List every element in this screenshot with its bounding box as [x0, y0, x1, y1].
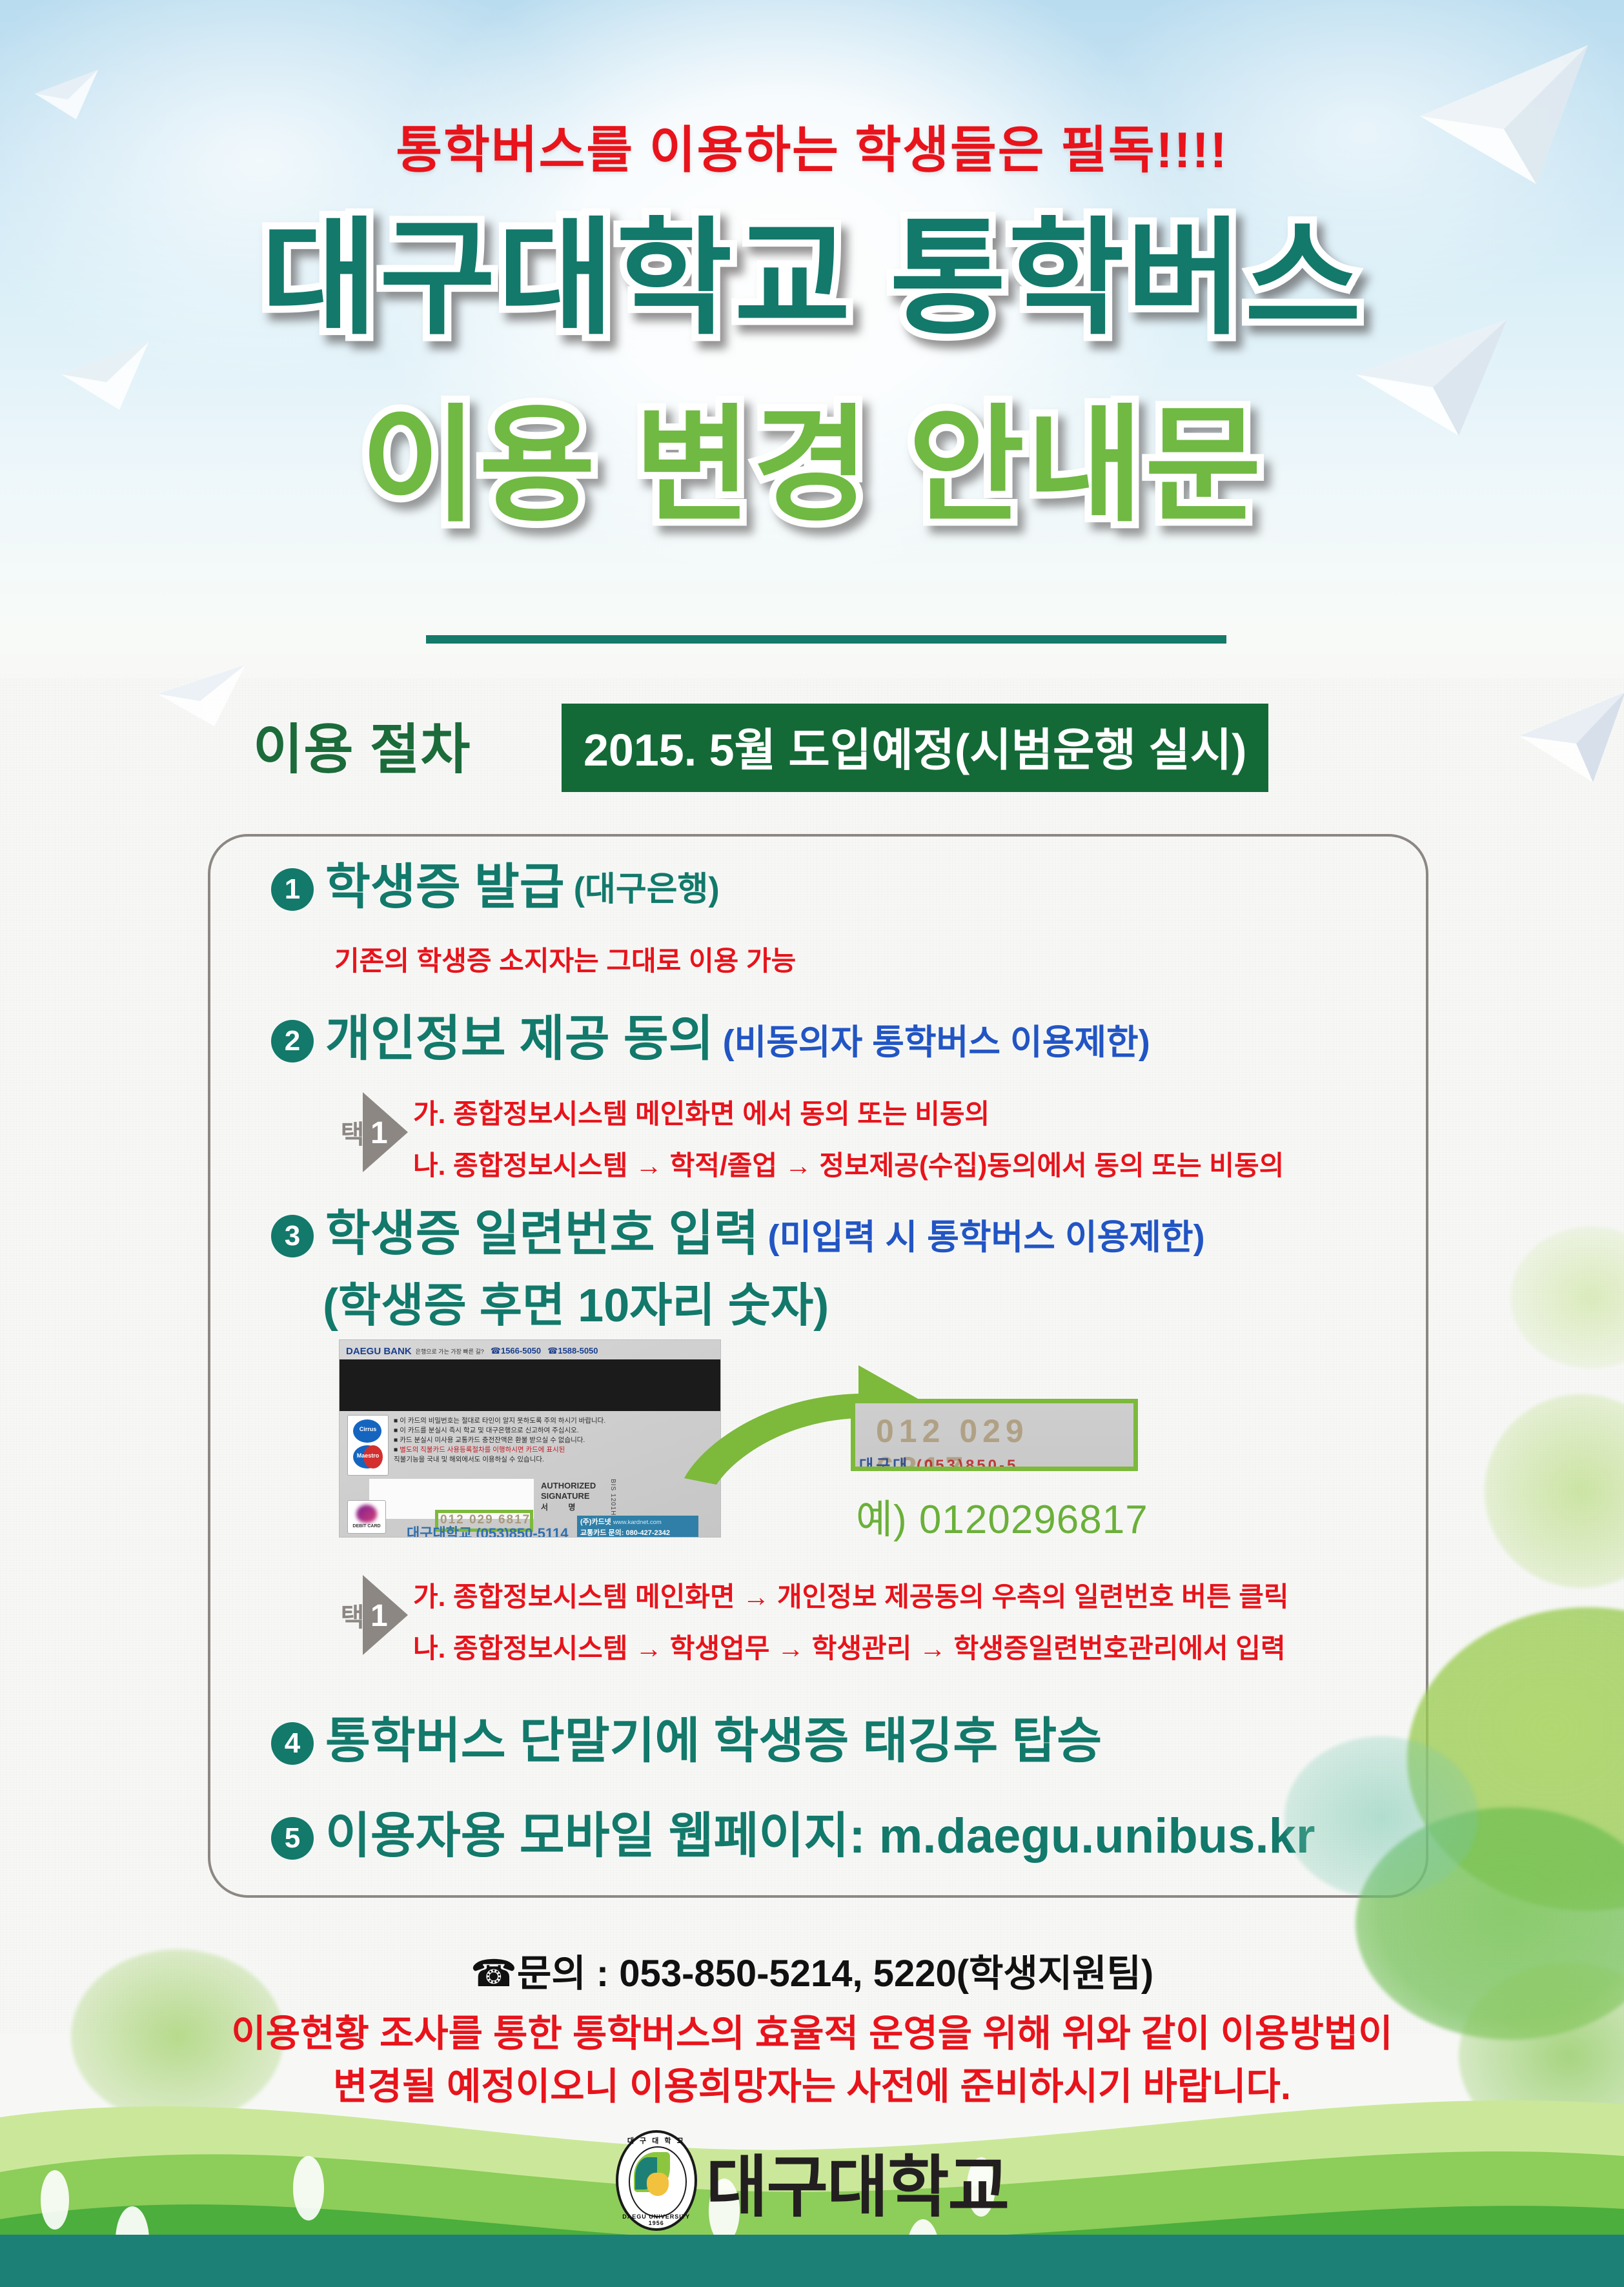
card-magnetic-stripe: [340, 1359, 720, 1411]
card-bank-header: DAEGU BANK 은행으로 가는 가장 빠른 길? ☎1566-5050 ☎…: [346, 1344, 715, 1358]
bottom-teal-bar: [0, 2235, 1624, 2287]
procedure-date-banner: 2015. 5월 도입예정(시범운행 실시): [562, 704, 1268, 792]
serial-zoom-callout: 012 029 6817 대구대 (053)850-5: [851, 1399, 1138, 1471]
card-bank-tagline: 은행으로 가는 가장 빠른 길?: [416, 1347, 484, 1356]
step-3-sub-a: 가. 종합정보시스템 메인화면 → 개인정보 제공동의 우측의 일련번호 버튼 …: [413, 1575, 1289, 1614]
step-1-note: 기존의 학생증 소지자는 그대로 이용 가능: [334, 939, 796, 979]
step-title: 통학버스 단말기에 학생증 태깅후 탑승: [325, 1716, 1102, 1767]
pick-number: 1: [370, 1598, 388, 1634]
kardnet-sub: 교통카드 문의: 080-427-2342: [580, 1529, 670, 1537]
title-divider: [426, 635, 1226, 644]
serial-example-text: 예) 0120296817: [856, 1487, 1148, 1545]
kardnet-name: (주)카드넷: [580, 1518, 611, 1526]
step-3-sub-b: 나. 종합정보시스템 → 학생업무 → 학생관리 → 학생증일련번호관리에서 입…: [413, 1627, 1286, 1666]
step-paren: (비동의자 통학버스 이용제한): [723, 1013, 1150, 1064]
step-title: 학생증 일련번호 입력: [325, 1208, 759, 1260]
pick-triangle-icon: 1: [363, 1575, 408, 1655]
pick-label: 택: [337, 1121, 363, 1144]
step-number-badge: 4: [271, 1722, 314, 1765]
card-rule: ■ 별도의 직불카드 사용등록절차를 이행하시면 카드에 표시된: [394, 1445, 633, 1455]
step-5: 5 이용자용 모바일 웹페이지: m.daegu.unibus.kr: [271, 1811, 1315, 1862]
maestro-label: Maestro: [348, 1452, 388, 1459]
university-logo: 대 구 대 학 교 DAEGU UNIVERSITY 1956 대구대학교: [0, 2130, 1624, 2231]
university-name: 대구대학교: [706, 2132, 1008, 2230]
step-2-sub-b: 나. 종합정보시스템 → 학적/졸업 → 정보제공(수집)동의에서 동의 또는 …: [413, 1144, 1284, 1183]
step-2-sub-a: 가. 종합정보시스템 메인화면 에서 동의 또는 비동의: [413, 1092, 990, 1132]
card-rule: 직불기능을 국내 및 해외에서도 이용하실 수 있습니다.: [394, 1455, 633, 1465]
pick-triangle-icon: 1: [363, 1092, 408, 1172]
card-rules-text: ■ 이 카드의 비밀번호는 절대로 타인이 알지 못하도록 주의 하시기 바랍니…: [394, 1416, 633, 1465]
main-title-line2: 이용 변경 안내문: [0, 400, 1624, 532]
step-number-badge: 2: [271, 1020, 314, 1062]
step-paren: (미입력 시 통학버스 이용제한): [768, 1208, 1205, 1259]
cirrus-maestro-logo-icon: Cirrus Maestro: [347, 1415, 389, 1476]
card-phone-2: ☎1588-5050: [547, 1346, 598, 1356]
card-auth-sig-ko: 서 명: [541, 1503, 584, 1512]
card-rule: ■ 이 카드를 분실시 즉시 학교 및 대구은행으로 신고하여 주십시오.: [394, 1426, 633, 1436]
step-3: 3 학생증 일련번호 입력 (미입력 시 통학버스 이용제한): [271, 1208, 1205, 1260]
card-phone-1: ☎1566-5050: [491, 1346, 541, 1356]
pick-label: 택: [337, 1603, 363, 1627]
pick-number: 1: [370, 1115, 388, 1151]
card-authorized-signature: AUTHORIZEDSIGNATURE서 명: [541, 1481, 596, 1512]
pick-one-marker: 택 1: [337, 1575, 408, 1655]
pick-one-marker: 택 1: [337, 1092, 408, 1172]
card-rule: ■ 이 카드의 비밀번호는 절대로 타인이 알지 못하도록 주의 하시기 바랍니…: [394, 1416, 633, 1426]
card-university-line: 대구대학교 (053)850-5114: [407, 1522, 568, 1538]
card-bis-code: BIS 1201H: [609, 1479, 616, 1516]
step-2: 2 개인정보 제공 동의 (비동의자 통학버스 이용제한): [271, 1013, 1150, 1065]
seal-ring-bottom: DAEGU UNIVERSITY 1956: [618, 2213, 695, 2226]
step-3-title-line2: (학생증 후면 10자리 숫자): [323, 1267, 829, 1335]
subhead-text: 통학버스를 이용하는 학생들은 필독!!!!: [0, 110, 1624, 182]
step-4: 4 통학버스 단말기에 학생증 태깅후 탑승: [271, 1716, 1102, 1767]
card-kardnet-box: (주)카드넷 www.kardnet.com 교통카드 문의: 080-427-…: [577, 1516, 698, 1538]
kardnet-url: www.kardnet.com: [613, 1519, 662, 1526]
step-1: 1 학생증 발급 (대구은행): [271, 862, 720, 913]
card-bank-name: DAEGU BANK: [346, 1346, 412, 1357]
step-number-badge: 3: [271, 1215, 314, 1257]
cirrus-label: Cirrus: [348, 1426, 388, 1432]
step-paren: (대구은행): [574, 862, 720, 910]
student-card-image: DAEGU BANK 은행으로 가는 가장 빠른 길? ☎1566-5050 ☎…: [339, 1339, 721, 1538]
debit-label: DEBIT CARD: [348, 1524, 385, 1529]
closing-line-1: 이용현황 조사를 통한 통학버스의 효율적 운영을 위해 위와 같이 이용방법이: [231, 2013, 1392, 2055]
main-title-line1: 대구대학교 통학버스: [0, 213, 1624, 345]
step-title: 학생증 발급: [325, 862, 565, 913]
contact-text: ☎문의 : 053-850-5214, 5220(학생지원팀): [0, 1943, 1624, 1997]
step-number-badge: 5: [271, 1817, 314, 1860]
watercolor-blob: [1284, 1736, 1478, 1898]
paper-plane-icon: [155, 658, 252, 729]
seal-ring-top: 대 구 대 학 교: [618, 2135, 695, 2146]
paper-plane-icon: [1517, 684, 1624, 788]
daegu-university-seal-icon: 대 구 대 학 교 DAEGU UNIVERSITY 1956: [616, 2130, 697, 2231]
step-number-badge: 1: [271, 868, 314, 911]
step-title: 개인정보 제공 동의: [325, 1013, 714, 1065]
debit-card-logo-icon: DEBIT CARD: [347, 1500, 386, 1534]
zoom-partial-text: 대구대 (053)850-5: [859, 1452, 1018, 1471]
procedure-label: 이용 절차: [253, 706, 471, 784]
poster-root: 통학버스를 이용하는 학생들은 필독!!!! 대구대학교 통학버스 이용 변경 …: [0, 0, 1624, 2287]
step-title: 이용자용 모바일 웹페이지: m.daegu.unibus.kr: [325, 1811, 1315, 1862]
card-rule: ■ 카드 분실시 미사용 교통카드 충전잔액은 환불 받으실 수 없습니다.: [394, 1436, 633, 1445]
